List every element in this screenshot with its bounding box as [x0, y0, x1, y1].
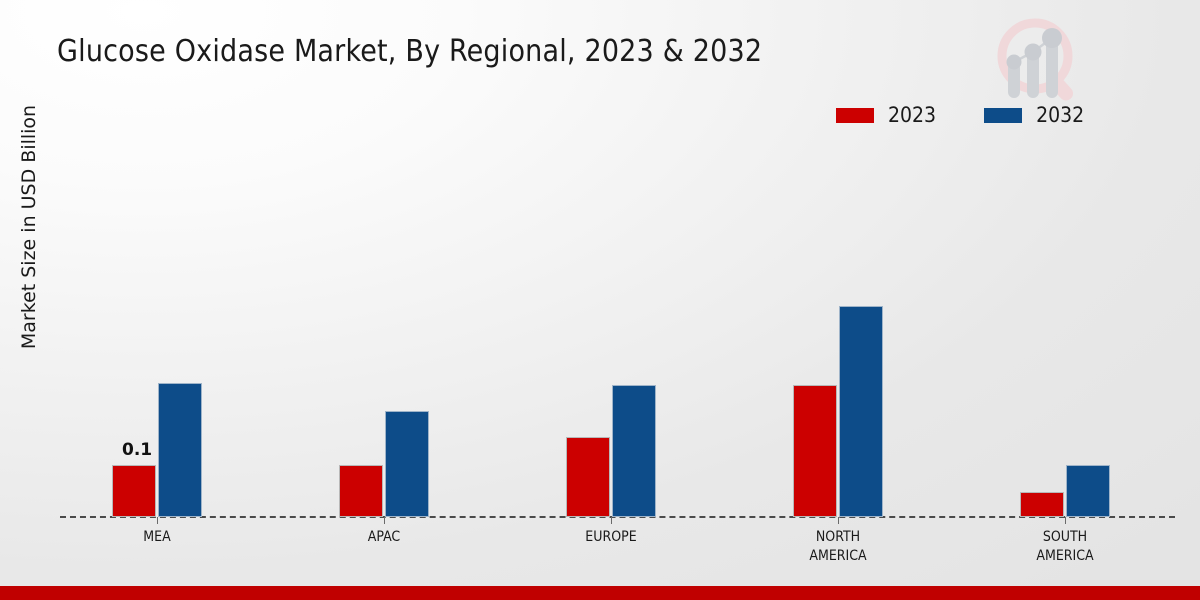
x-tick-europe — [611, 517, 612, 524]
x-axis-label-north-america: NORTH AMERICA — [758, 528, 918, 566]
bar-south-america-2032[interactable] — [1066, 465, 1110, 517]
accent-bar — [0, 586, 1200, 600]
bar-europe-2032[interactable] — [612, 385, 656, 517]
x-tick-mea — [157, 517, 158, 524]
x-tick-north-america — [838, 517, 839, 524]
bar-apac-2023[interactable] — [339, 465, 383, 517]
bar-mea-2023[interactable] — [112, 465, 156, 517]
plot-area: 0.1 MEAAPACEUROPENORTH AMERICASOUTH AMER… — [0, 0, 1200, 560]
bar-apac-2032[interactable] — [385, 411, 429, 517]
bar-europe-2023[interactable] — [566, 437, 610, 517]
bar-mea-2032[interactable] — [158, 383, 202, 517]
x-tick-south-america — [1065, 517, 1066, 524]
x-axis-label-europe: EUROPE — [531, 528, 691, 547]
x-axis-label-south-america: SOUTH AMERICA — [985, 528, 1145, 566]
bar-south-america-2023[interactable] — [1020, 492, 1064, 517]
chart-canvas: Glucose Oxidase Market, By Regional, 202… — [0, 0, 1200, 600]
x-axis-label-mea: MEA — [77, 528, 237, 547]
bar-north-america-2032[interactable] — [839, 306, 883, 517]
x-tick-apac — [384, 517, 385, 524]
data-label-mea-2023: 0.1 — [122, 440, 152, 460]
bar-north-america-2023[interactable] — [793, 385, 837, 517]
x-axis-label-apac: APAC — [304, 528, 464, 547]
